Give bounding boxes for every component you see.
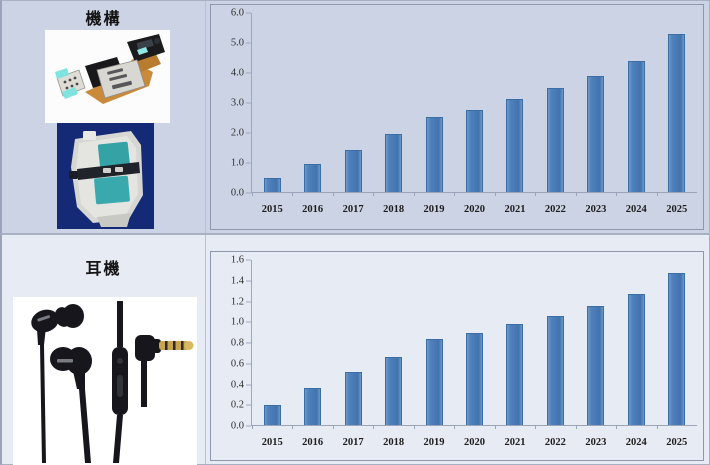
y-tick-mark [246, 103, 251, 104]
phone-frame-artwork [57, 123, 154, 229]
x-tick-mark [616, 192, 617, 196]
x-tick-label: 2025 [657, 437, 697, 448]
plot-area-mechanism: 0.01.02.03.04.05.06.0 [251, 13, 697, 193]
bar-slot[interactable] [576, 260, 616, 425]
x-tick-label: 2019 [414, 437, 454, 448]
y-tick-label: 5.0 [231, 38, 244, 49]
bar[interactable] [668, 34, 685, 192]
y-tick-mark [246, 343, 251, 344]
y-tick-mark [246, 426, 251, 427]
x-tick-label: 2018 [373, 437, 413, 448]
x-axis-line-bottom [251, 425, 697, 426]
bar[interactable] [628, 61, 645, 192]
x-tick-mark [333, 425, 334, 429]
sim-flex-cable-artwork [45, 30, 170, 123]
bar[interactable] [466, 110, 483, 192]
media-column-mechanism: 機構 [2, 1, 205, 233]
bar[interactable] [547, 88, 564, 192]
y-tick-label: 1.0 [231, 317, 244, 328]
chart-mechanism: 0.01.02.03.04.05.06.0 201520162017201820… [210, 4, 704, 230]
x-tick-label: 2023 [576, 204, 616, 215]
x-tick-label: 2016 [292, 437, 332, 448]
bar[interactable] [385, 357, 402, 425]
x-tick-mark [616, 425, 617, 429]
bar-slot[interactable] [333, 13, 373, 192]
x-tick-mark [252, 425, 253, 429]
y-tick-mark [246, 73, 251, 74]
y-tick-label: 1.2 [231, 296, 244, 307]
x-tick-label: 2025 [657, 204, 697, 215]
y-tick-label: 0.8 [231, 338, 244, 349]
y-tick-label: 0.2 [231, 400, 244, 411]
x-tick-mark [535, 425, 536, 429]
x-tick-mark [252, 192, 253, 196]
x-tick-mark [292, 425, 293, 429]
bar[interactable] [628, 294, 645, 425]
plot-area-earphone: 0.00.20.40.60.81.01.21.41.6 [251, 260, 697, 426]
x-tick-mark [576, 425, 577, 429]
x-tick-mark [454, 192, 455, 196]
bar-slot[interactable] [252, 260, 292, 425]
bar[interactable] [668, 273, 685, 425]
y-tick-mark [246, 363, 251, 364]
panel-title-earphone: 耳機 [2, 255, 205, 279]
bar[interactable] [304, 388, 321, 425]
y-tick-label: 1.4 [231, 275, 244, 286]
x-tick-label: 2024 [616, 437, 656, 448]
x-tick-label: 2024 [616, 204, 656, 215]
panel-mechanism: 機構 [0, 0, 710, 234]
x-tick-label: 2015 [252, 204, 292, 215]
bar-slot[interactable] [454, 13, 494, 192]
bar[interactable] [385, 134, 402, 192]
sim-flex-cable-photo [45, 30, 170, 123]
y-axis-earphone: 0.00.20.40.60.81.01.21.41.6 [213, 260, 251, 426]
bar-slot[interactable] [292, 13, 332, 192]
x-tick-label: 2021 [495, 437, 535, 448]
sony-earphones-photo [13, 297, 197, 465]
bar-slot[interactable] [414, 13, 454, 192]
bar[interactable] [587, 306, 604, 425]
y-tick-label: 4.0 [231, 68, 244, 79]
bar-slot[interactable] [657, 13, 697, 192]
phone-internal-frame-photo [57, 123, 154, 229]
bar[interactable] [466, 333, 483, 425]
x-tick-mark [576, 192, 577, 196]
x-tick-mark [292, 192, 293, 196]
bar[interactable] [304, 164, 321, 192]
x-tick-label: 2017 [333, 437, 373, 448]
earphones-artwork [13, 297, 197, 465]
bar[interactable] [547, 316, 564, 425]
y-tick-mark [246, 193, 251, 194]
bar-series-earphone [252, 260, 697, 425]
x-axis-mechanism: 2015201620172018201920202021202220232024… [252, 204, 697, 215]
bar-slot[interactable] [616, 260, 656, 425]
y-axis-mechanism: 0.01.02.03.04.05.06.0 [213, 13, 251, 193]
x-tick-label: 2021 [495, 204, 535, 215]
bar-slot[interactable] [576, 13, 616, 192]
bar-slot[interactable] [373, 13, 413, 192]
bar-series-mechanism [252, 13, 697, 192]
bar[interactable] [506, 324, 523, 425]
y-tick-mark [246, 133, 251, 134]
x-tick-label: 2016 [292, 204, 332, 215]
chart-column-earphone: 0.00.20.40.60.81.01.21.41.6 201520162017… [205, 235, 709, 464]
x-tick-label: 2017 [333, 204, 373, 215]
bar-slot[interactable] [535, 13, 575, 192]
bar-slot[interactable] [495, 260, 535, 425]
bar[interactable] [587, 76, 604, 192]
y-tick-mark [246, 280, 251, 281]
bar-slot[interactable] [333, 260, 373, 425]
y-tick-mark [246, 301, 251, 302]
y-tick-mark [246, 384, 251, 385]
x-tick-mark [454, 425, 455, 429]
x-axis-line-top [251, 192, 697, 193]
bar-slot[interactable] [495, 13, 535, 192]
y-tick-mark [246, 43, 251, 44]
x-tick-label: 2022 [535, 204, 575, 215]
bar[interactable] [264, 178, 281, 192]
y-tick-mark [246, 163, 251, 164]
y-tick-label: 0.4 [231, 379, 244, 390]
y-tick-mark [246, 260, 251, 261]
x-tick-mark [373, 425, 374, 429]
y-tick-mark [246, 322, 251, 323]
x-tick-mark [657, 192, 658, 196]
bar-slot[interactable] [373, 260, 413, 425]
bar[interactable] [264, 405, 281, 425]
chart-earphone: 0.00.20.40.60.81.01.21.41.6 201520162017… [210, 251, 704, 461]
y-tick-label: 6.0 [231, 8, 244, 19]
bar[interactable] [426, 117, 443, 192]
x-axis-earphone: 2015201620172018201920202021202220232024… [252, 437, 697, 448]
x-tick-label: 2020 [454, 204, 494, 215]
bar-slot[interactable] [535, 260, 575, 425]
y-tick-mark [246, 405, 251, 406]
x-tick-mark [373, 192, 374, 196]
bar-slot[interactable] [616, 13, 656, 192]
x-tick-label: 2020 [454, 437, 494, 448]
x-tick-label: 2022 [535, 437, 575, 448]
x-tick-mark [495, 192, 496, 196]
x-tick-label: 2018 [373, 204, 413, 215]
y-tick-label: 0.0 [231, 421, 244, 432]
bar-slot[interactable] [414, 260, 454, 425]
bar-slot[interactable] [454, 260, 494, 425]
x-tick-mark [535, 192, 536, 196]
x-tick-mark [657, 425, 658, 429]
x-tick-label: 2023 [576, 437, 616, 448]
y-tick-mark [246, 13, 251, 14]
bar[interactable] [506, 99, 523, 192]
bar-slot[interactable] [292, 260, 332, 425]
bar-slot[interactable] [252, 13, 292, 192]
slide-canvas: 機構 [0, 0, 710, 465]
x-tick-mark [414, 192, 415, 196]
y-tick-label: 1.6 [231, 255, 244, 266]
bar-slot[interactable] [657, 260, 697, 425]
bar[interactable] [345, 372, 362, 425]
y-tick-label: 0.0 [231, 188, 244, 199]
x-tick-mark [495, 425, 496, 429]
bar[interactable] [426, 339, 443, 425]
x-tick-label: 2019 [414, 204, 454, 215]
bar[interactable] [345, 150, 362, 192]
panel-title-mechanism: 機構 [2, 5, 205, 29]
x-tick-mark [414, 425, 415, 429]
x-tick-mark [333, 192, 334, 196]
x-tick-label: 2015 [252, 437, 292, 448]
y-tick-label: 1.0 [231, 158, 244, 169]
y-tick-label: 0.6 [231, 358, 244, 369]
y-tick-label: 2.0 [231, 128, 244, 139]
chart-column-mechanism: 0.01.02.03.04.05.06.0 201520162017201820… [205, 1, 709, 233]
y-tick-label: 3.0 [231, 98, 244, 109]
